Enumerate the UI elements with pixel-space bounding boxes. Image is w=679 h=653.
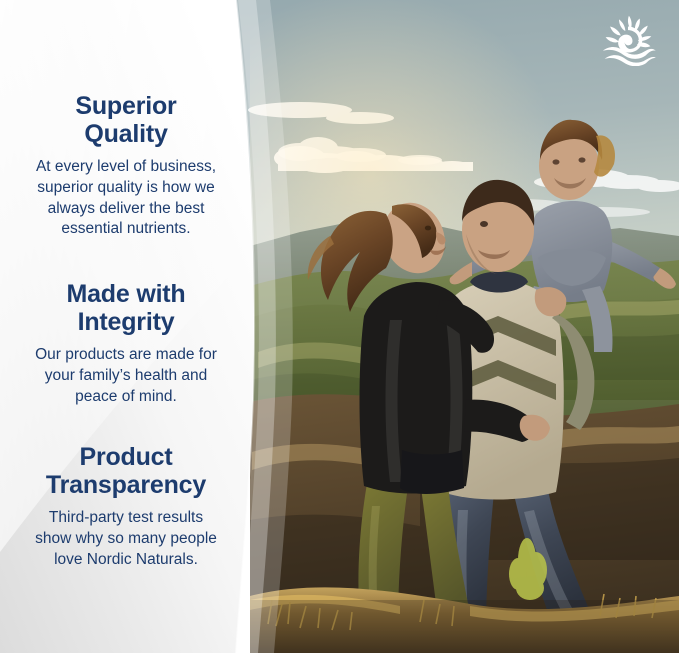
value-title-line1: Superior bbox=[75, 92, 176, 120]
value-block-superior-quality: Superior Quality At every level of busin… bbox=[14, 92, 238, 240]
value-title: Made with Integrity bbox=[26, 280, 226, 336]
value-title: Product Transparency bbox=[19, 443, 234, 499]
value-description: Our products are made for your family’s … bbox=[22, 345, 230, 407]
value-title: Superior Quality bbox=[44, 92, 209, 148]
value-title-line1: Made with bbox=[66, 280, 185, 308]
value-title-line1: Product bbox=[79, 443, 172, 471]
value-block-made-with-integrity: Made with Integrity Our products are mad… bbox=[14, 280, 238, 407]
values-text-column: Superior Quality At every level of busin… bbox=[0, 0, 252, 653]
value-block-product-transparency: Product Transparency Third-party test re… bbox=[14, 443, 238, 570]
sun-wave-logo-icon bbox=[599, 14, 657, 66]
value-title-line2: Quality bbox=[84, 120, 167, 148]
value-title-line2: Transparency bbox=[46, 471, 206, 499]
value-title-line2: Integrity bbox=[78, 308, 175, 336]
value-description: At every level of business, superior qua… bbox=[22, 157, 230, 240]
value-description: Third-party test results show why so man… bbox=[33, 508, 219, 570]
brand-values-banner: Superior Quality At every level of busin… bbox=[0, 0, 679, 653]
